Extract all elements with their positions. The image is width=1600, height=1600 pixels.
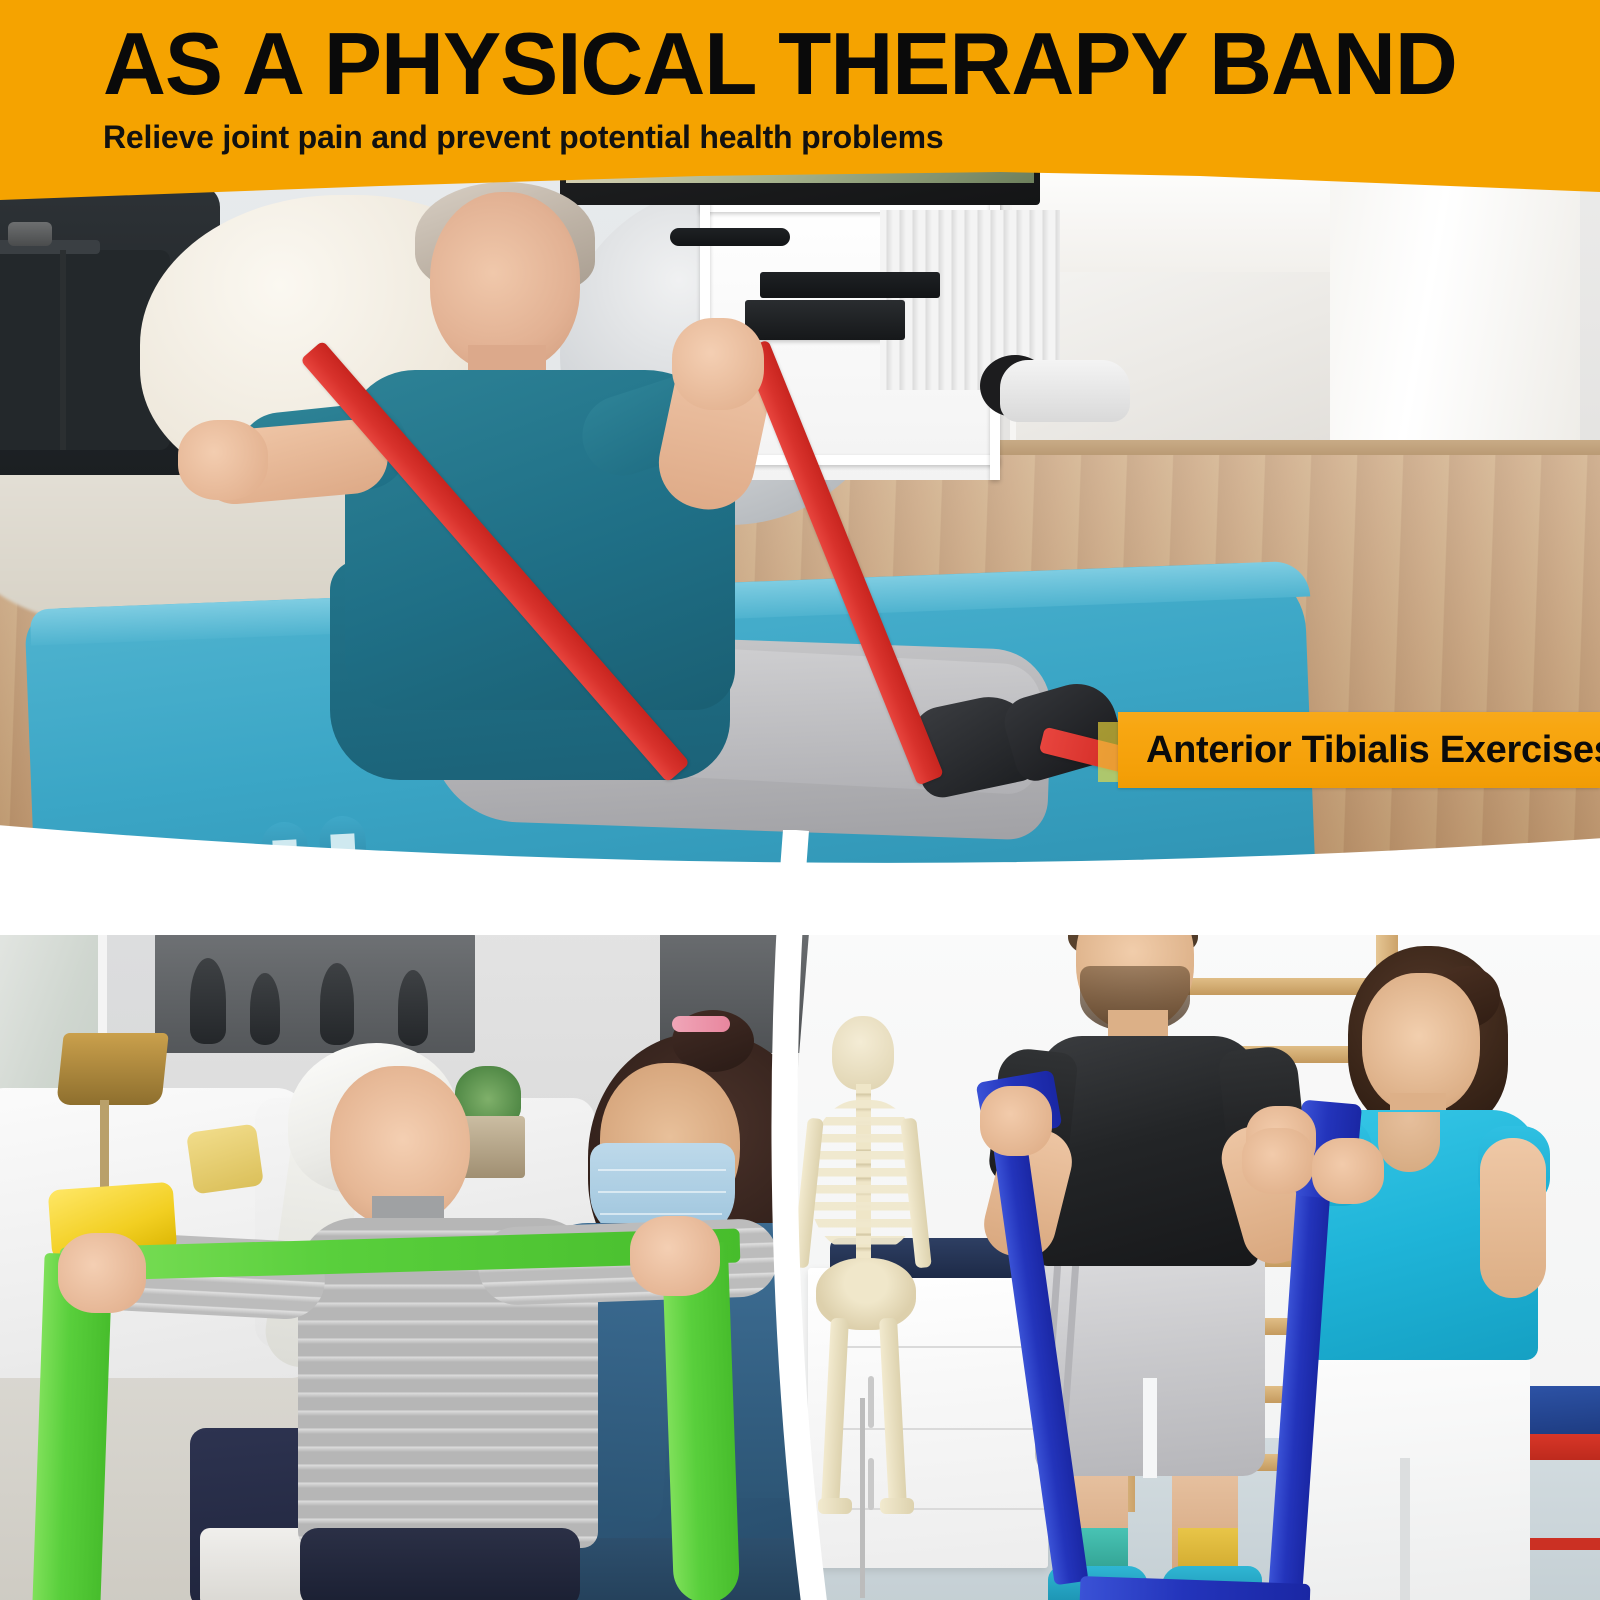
scene-nurse-assisting-band-stretch (0, 838, 815, 1600)
table-lamp-shade (56, 1033, 169, 1105)
man-hand-left (980, 1086, 1052, 1156)
man-shorts-split (1143, 1378, 1157, 1478)
vr-headset (1000, 360, 1130, 422)
cabinet-handle-2[interactable] (868, 1458, 874, 1510)
skeleton-foot-right (880, 1498, 914, 1514)
skeleton-skull (832, 1016, 894, 1090)
decor-vase-4 (398, 970, 428, 1046)
curtain (1330, 150, 1580, 490)
cabinet-handle-1[interactable] (868, 1376, 874, 1428)
skeleton-stand (860, 1398, 865, 1598)
panel-postoperative-rehabilitation: Postoperative Rehabilitation (0, 838, 815, 1600)
decor-vase-2 (250, 973, 280, 1045)
mask-pleat-1 (598, 1169, 726, 1171)
therapist-vneck (1378, 1112, 1440, 1172)
nurse-hair-tie (672, 1016, 730, 1032)
mask-pleat-2 (598, 1191, 726, 1193)
therapist-head (1362, 973, 1480, 1113)
candle-holder (8, 222, 52, 246)
page-title: AS A PHYSICAL THERAPY BAND (103, 20, 1457, 108)
therapist-arm-right (1480, 1138, 1546, 1298)
caption-badge-anterior-tibialis: Anterior Tibialis Exercises (1118, 712, 1600, 788)
woman-hand-right (672, 318, 764, 410)
tv-remote (670, 228, 790, 246)
panel-relieve-joint-pain: Relieve Joint Pain (780, 838, 1600, 1600)
patient-hand-left (58, 1233, 146, 1313)
table-leg (60, 250, 66, 450)
therapist-hand-left (1242, 1128, 1314, 1194)
therapist-pants-split (1400, 1458, 1410, 1600)
product-marketing-image: Anterior Tibialis Exercises (0, 0, 1600, 1600)
throw-pillow (186, 1123, 264, 1194)
scene-physiotherapy-gym-band-curl (780, 838, 1600, 1600)
mask-pleat-3 (600, 1213, 722, 1215)
therapist-white-pants (1300, 1338, 1530, 1600)
patient-hand-right (630, 1216, 720, 1296)
therapist-hand-right (1312, 1138, 1384, 1204)
skeleton-foot-left (818, 1498, 852, 1514)
media-box (760, 272, 940, 298)
page-subtitle: Relieve joint pain and prevent potential… (103, 119, 944, 156)
patient-legs (300, 1528, 580, 1600)
decor-vase-1 (190, 958, 226, 1044)
caption-text-anterior: Anterior Tibialis Exercises (1146, 729, 1600, 772)
cabinet-drawer-line-3 (842, 1508, 1070, 1510)
woman-hand-left (178, 420, 268, 500)
decor-vase-3 (320, 963, 354, 1045)
av-receiver (745, 300, 905, 340)
